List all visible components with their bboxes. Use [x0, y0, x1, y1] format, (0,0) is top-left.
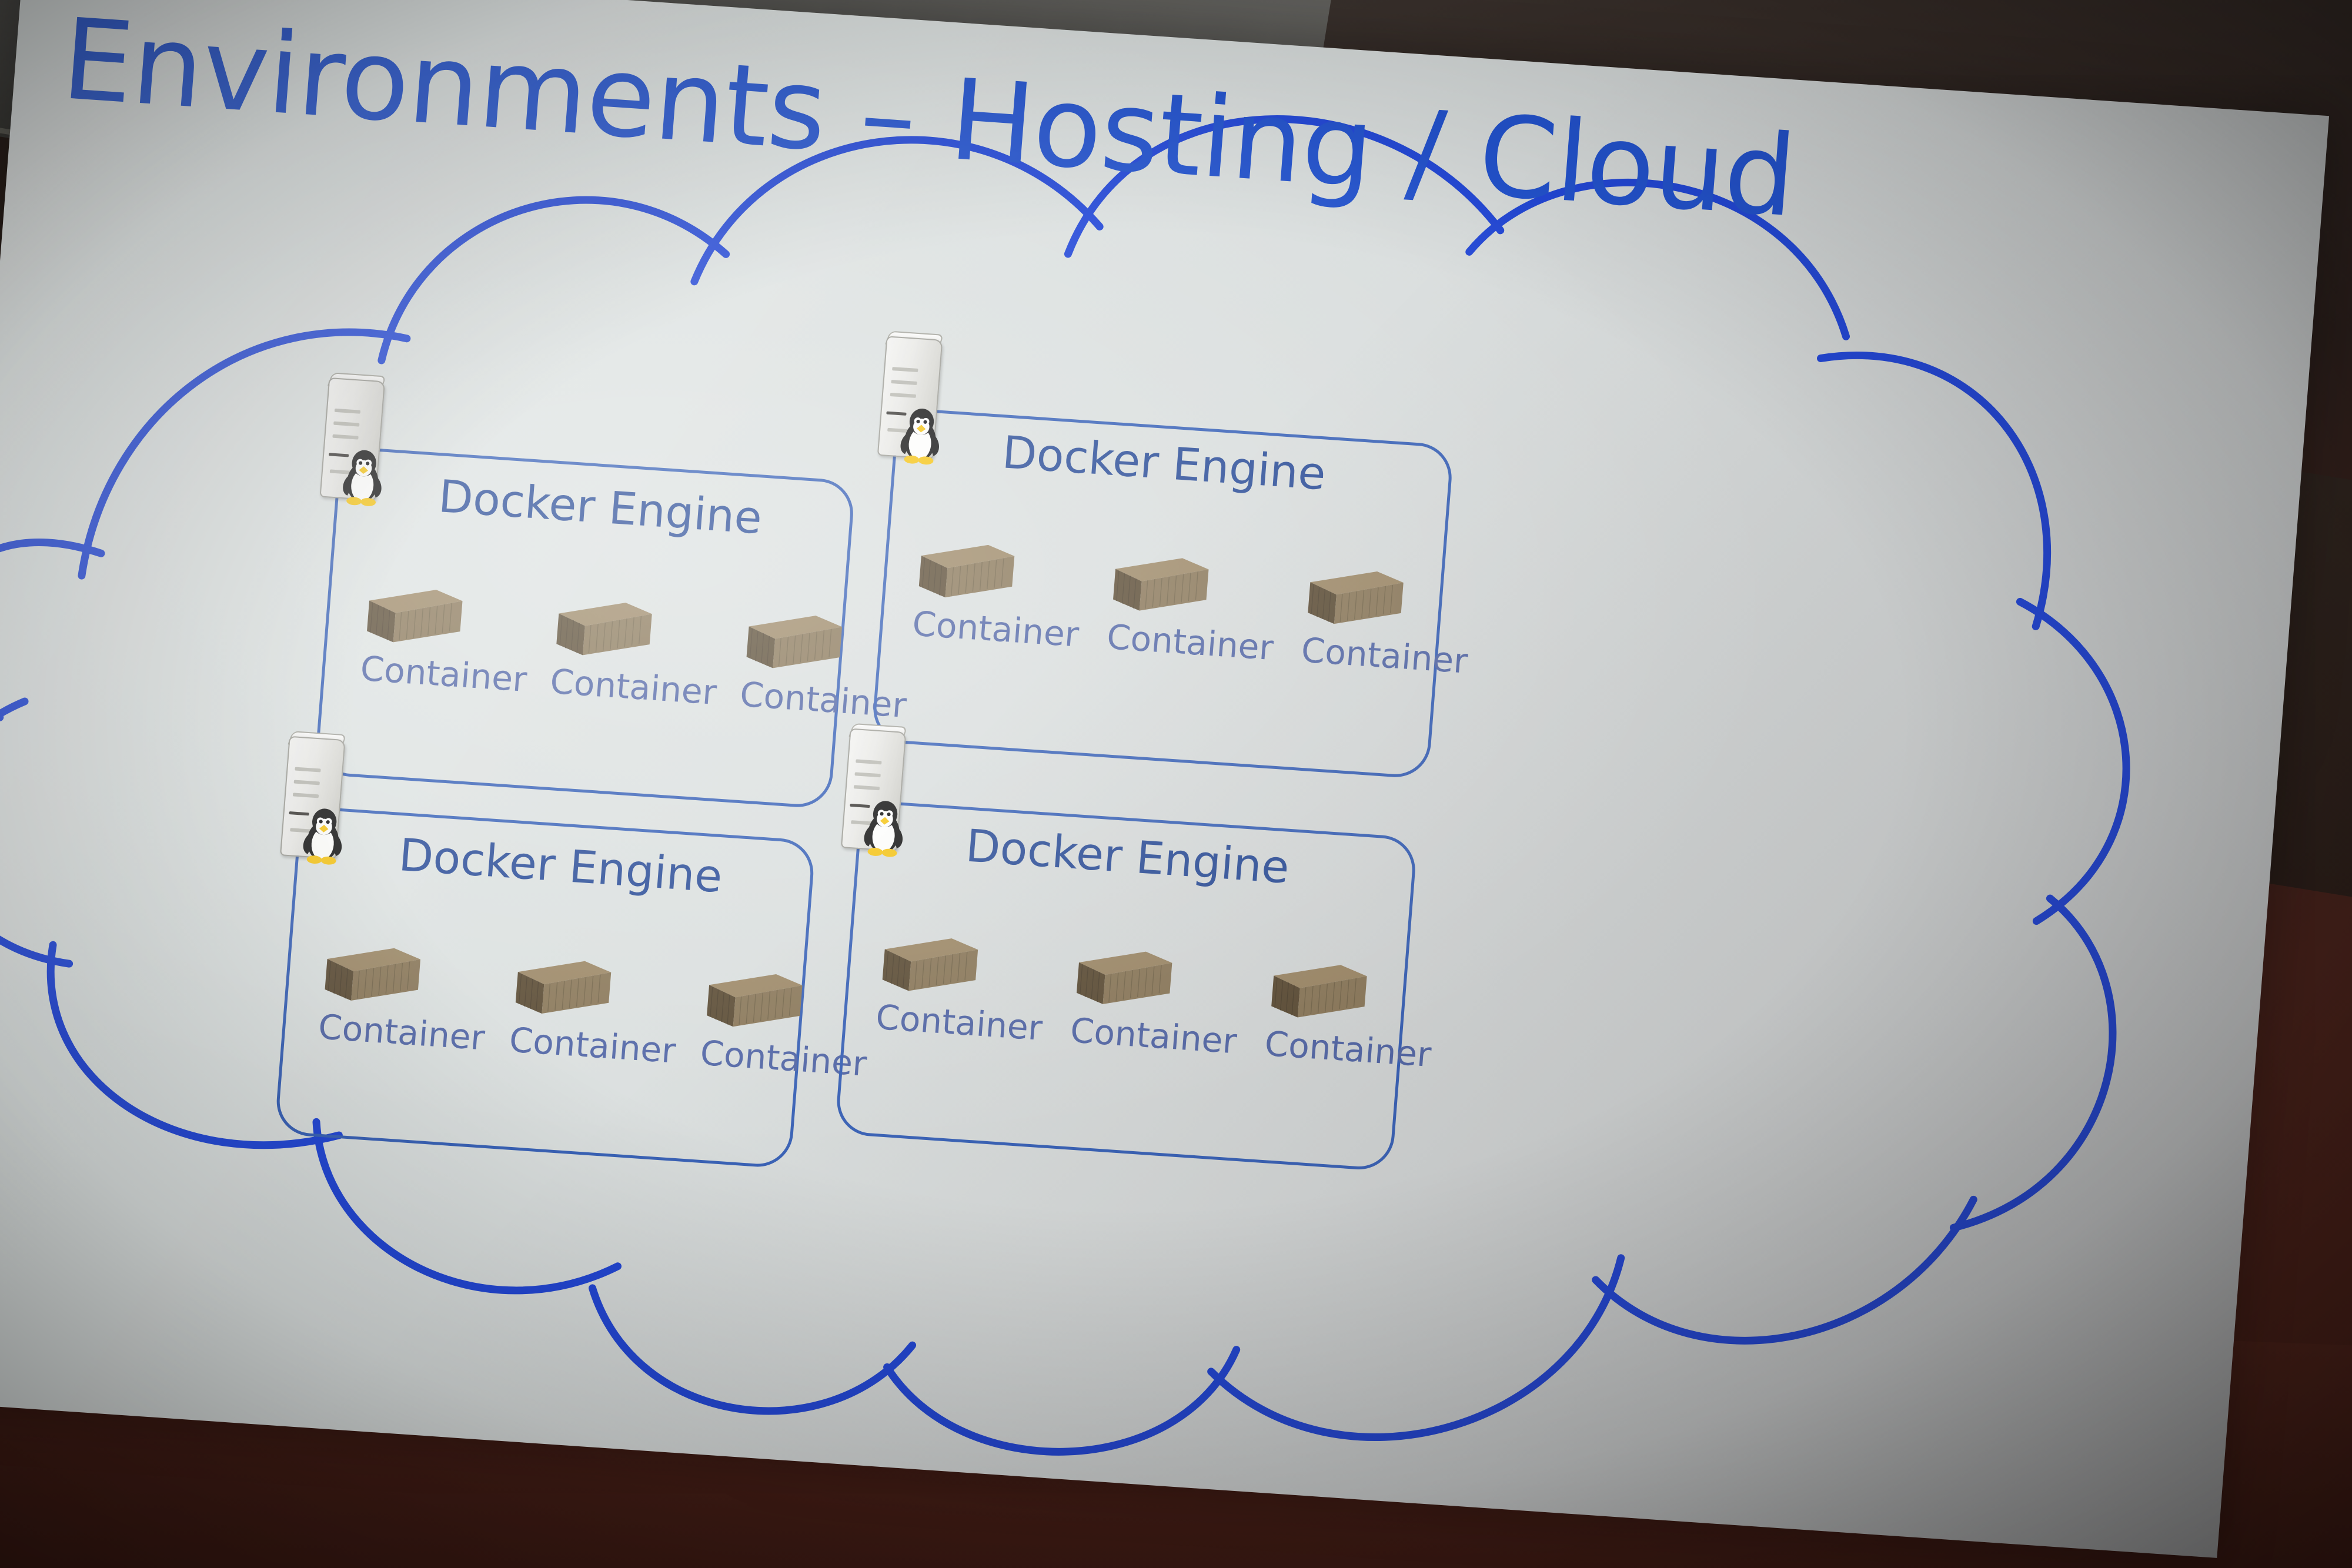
docker-engine-label: Docker Engine: [397, 828, 724, 902]
container-item[interactable]: Container: [1069, 937, 1244, 1062]
container-label: Container: [1300, 630, 1469, 681]
container-label: Container: [874, 997, 1044, 1048]
container-label: Container: [359, 648, 528, 700]
container-item[interactable]: Container: [911, 530, 1086, 655]
docker-host-top-left[interactable]: Docker Engine: [314, 446, 856, 809]
docker-engine-label: Docker Engine: [964, 820, 1291, 894]
container-label: Container: [1263, 1024, 1432, 1075]
container-item[interactable]: Container: [1263, 950, 1438, 1075]
container-item[interactable]: Container: [549, 587, 724, 713]
server-tower-icon: [270, 735, 355, 864]
container-row: Container: [359, 574, 913, 726]
container-row: Container: [317, 933, 874, 1084]
container-row: Container: [874, 923, 1438, 1075]
container-label: Container: [549, 661, 718, 713]
linux-penguin-icon: [893, 403, 948, 467]
container-label: Container: [1069, 1010, 1238, 1061]
docker-engine-label: Docker Engine: [437, 470, 764, 544]
container-label: Container: [911, 604, 1080, 655]
linux-penguin-icon: [296, 803, 351, 867]
container-label: Container: [508, 1019, 677, 1071]
shipping-container-icon: [1267, 950, 1372, 1027]
shipping-container-icon: [742, 600, 847, 677]
container-item[interactable]: Container: [317, 933, 492, 1058]
shipping-container-icon: [702, 959, 807, 1036]
container-row: Container: [911, 530, 1475, 681]
docker-host-top-right[interactable]: Docker Engine: [871, 407, 1454, 780]
projection-screen: Environments – Hosting / Cloud: [0, 0, 2329, 1558]
server-tower-icon: [831, 727, 916, 855]
container-item[interactable]: Container: [508, 946, 683, 1071]
photo-of-projected-slide: Environments – Hosting / Cloud: [0, 0, 2352, 1568]
shipping-container-icon: [552, 587, 657, 664]
linux-penguin-icon: [336, 444, 391, 509]
docker-engine-label: Docker Engine: [1000, 426, 1327, 500]
container-item[interactable]: Container: [874, 923, 1050, 1048]
shipping-container-icon: [1109, 543, 1214, 620]
docker-host-bottom-right[interactable]: Docker Engine: [834, 800, 1418, 1172]
container-label: Container: [317, 1007, 486, 1058]
server-tower-icon: [310, 377, 395, 505]
container-item[interactable]: Container: [359, 574, 534, 700]
shipping-container-icon: [1303, 556, 1408, 633]
shipping-container-icon: [914, 530, 1020, 607]
shipping-container-icon: [511, 946, 616, 1023]
server-tower-icon: [867, 335, 952, 463]
container-item[interactable]: Container: [1105, 543, 1281, 668]
linux-penguin-icon: [857, 795, 912, 860]
shipping-container-icon: [1073, 937, 1178, 1014]
docker-host-bottom-left[interactable]: Docker Engine: [274, 805, 816, 1169]
container-item[interactable]: Container: [1300, 556, 1475, 681]
shipping-container-icon: [878, 923, 983, 1000]
container-label: Container: [1105, 617, 1275, 668]
shipping-container-icon: [362, 574, 467, 651]
shipping-container-icon: [320, 933, 426, 1010]
